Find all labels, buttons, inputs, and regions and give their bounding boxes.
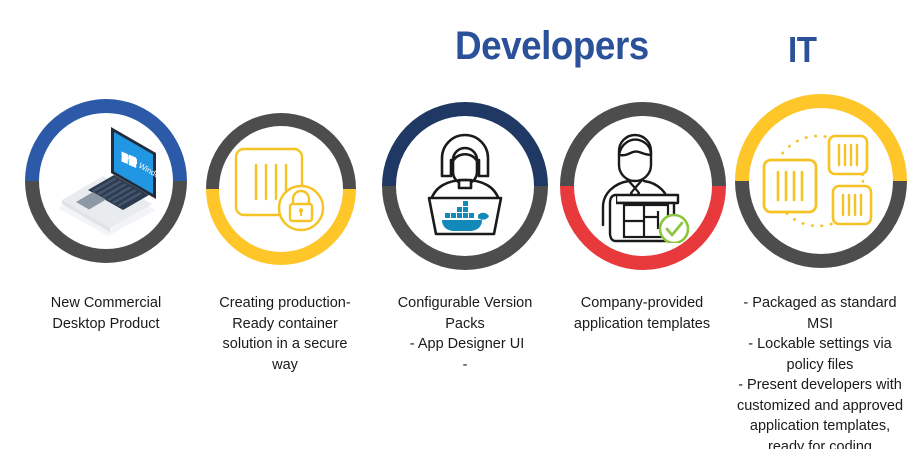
ring-3-graphic [373,93,557,279]
caption-line: - Present developers with [722,375,918,396]
caption-line: Ready container [205,314,365,335]
caption-line: New Commercial [26,293,186,314]
caption-line: policy files [722,355,918,376]
stage-1-caption: New Commercial Desktop Product [26,293,186,334]
caption-line: Configurable Version [381,293,549,314]
stage-2-ring[interactable] [198,105,364,273]
caption-line: way [205,355,365,376]
caption-line: customized and approved [722,396,918,417]
stage-1-ring[interactable]: Windows [16,90,196,272]
stage-2-caption: Creating production- Ready container sol… [205,293,365,375]
caption-line: application templates, [722,416,918,437]
ring-1-graphic [16,90,196,272]
caption-line: Packs [381,314,549,335]
caption-line: - App Designer UI [381,334,549,355]
caption-line: Desktop Product [26,314,186,335]
caption-line: MSI [722,314,918,335]
stage-3-caption: Configurable Version Packs - App Designe… [381,293,549,375]
caption-line: solution in a secure [205,334,365,355]
caption-line: application templates [558,314,726,335]
ring-4-graphic [551,93,735,279]
stage-4-caption: Company-provided application templates [558,293,726,334]
caption-line: Company-provided [558,293,726,314]
ring-2-graphic [198,105,364,273]
caption-line: - Lockable settings via [722,334,918,355]
caption-line: Creating production- [205,293,365,314]
heading-it: IT [788,32,817,68]
heading-developers: Developers [455,26,649,66]
infographic-canvas: Developers IT [0,0,923,449]
caption-line: - Packaged as standard [722,293,918,314]
caption-line: - [381,355,549,376]
ring-5-graphic [726,85,916,277]
stage-5-ring[interactable] [726,85,916,277]
stage-4-ring[interactable] [551,93,735,279]
stage-3-ring[interactable] [373,93,557,279]
stage-5-caption: - Packaged as standard MSI - Lockable se… [722,293,918,449]
caption-line: ready for coding [722,437,918,449]
